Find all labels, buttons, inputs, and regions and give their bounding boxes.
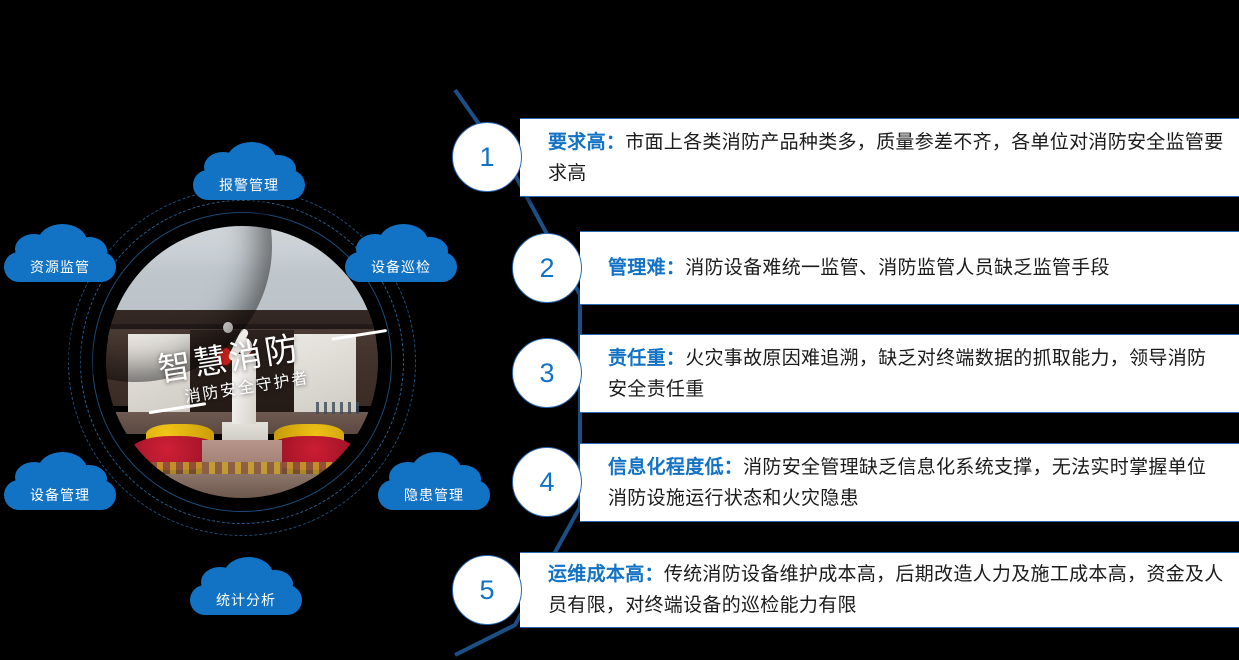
- step-number-badge[interactable]: 2: [512, 233, 582, 303]
- list-item-text: 要求高：市面上各类消防产品种类多，质量参差不齐，各单位对消防安全监管要求高: [548, 127, 1225, 189]
- list-item-body: 消防设备难统一监管、消防监管人员缺乏监管手段: [685, 258, 1110, 279]
- list-item-heading: 要求高：: [548, 132, 625, 153]
- list-item-body: 市面上各类消防产品种类多，质量参差不齐，各单位对消防安全监管要求高: [548, 132, 1224, 184]
- step-number-text: 4: [539, 467, 554, 498]
- list-item-body: 火灾事故原因难追溯，缺乏对终端数据的抓取能力，领导消防安全责任重: [608, 348, 1206, 400]
- cloud-label-text: 设备管理: [4, 485, 116, 505]
- cloud-label-text: 设备巡检: [345, 257, 457, 277]
- list-item: 要求高：市面上各类消防产品种类多，质量参差不齐，各单位对消防安全监管要求高: [520, 118, 1239, 197]
- list-item-text: 管理难：消防设备难统一监管、消防监管人员缺乏监管手段: [608, 253, 1225, 284]
- list-item-heading: 责任重：: [608, 348, 685, 369]
- step-number-badge[interactable]: 1: [452, 122, 522, 192]
- list-item-text: 运维成本高：传统消防设备维护成本高，后期改造人力及施工成本高，资金及人员有限，对…: [548, 559, 1225, 621]
- step-number-text: 1: [479, 142, 494, 173]
- list-item-heading: 运维成本高：: [548, 564, 664, 585]
- slide-canvas: 智慧消防 消防安全守护者 报警管理 资源监管 设备巡检: [0, 0, 1239, 658]
- list-item: 信息化程度低：消防安全管理缺乏信息化系统支撑，无法实时掌握单位消防设施运行状态和…: [580, 443, 1239, 522]
- list-item: 责任重：火灾事故原因难追溯，缺乏对终端数据的抓取能力，领导消防安全责任重: [580, 334, 1239, 413]
- step-number-badge[interactable]: 5: [452, 555, 522, 625]
- step-number-text: 2: [539, 253, 554, 284]
- step-number-badge[interactable]: 3: [512, 338, 582, 408]
- list-item: 运维成本高：传统消防设备维护成本高，后期改造人力及施工成本高，资金及人员有限，对…: [520, 552, 1239, 628]
- list-item: 管理难：消防设备难统一监管、消防监管人员缺乏监管手段: [580, 231, 1239, 305]
- list-item-heading: 管理难：: [608, 258, 685, 279]
- cloud-label-text: 隐患管理: [378, 485, 490, 505]
- step-number-text: 5: [479, 575, 494, 606]
- cloud-label-text: 报警管理: [193, 175, 305, 195]
- list-item-heading: 信息化程度低：: [608, 457, 743, 478]
- list-item-text: 信息化程度低：消防安全管理缺乏信息化系统支撑，无法实时掌握单位消防设施运行状态和…: [608, 452, 1225, 514]
- step-number-badge[interactable]: 4: [512, 447, 582, 517]
- list-item-text: 责任重：火灾事故原因难追溯，缺乏对终端数据的抓取能力，领导消防安全责任重: [608, 343, 1225, 405]
- issue-list: 要求高：市面上各类消防产品种类多，质量参差不齐，各单位对消防安全监管要求高 管理…: [0, 0, 1239, 658]
- cloud-label-text: 统计分析: [190, 590, 302, 610]
- step-number-text: 3: [539, 358, 554, 389]
- cloud-label-text: 资源监管: [4, 257, 116, 277]
